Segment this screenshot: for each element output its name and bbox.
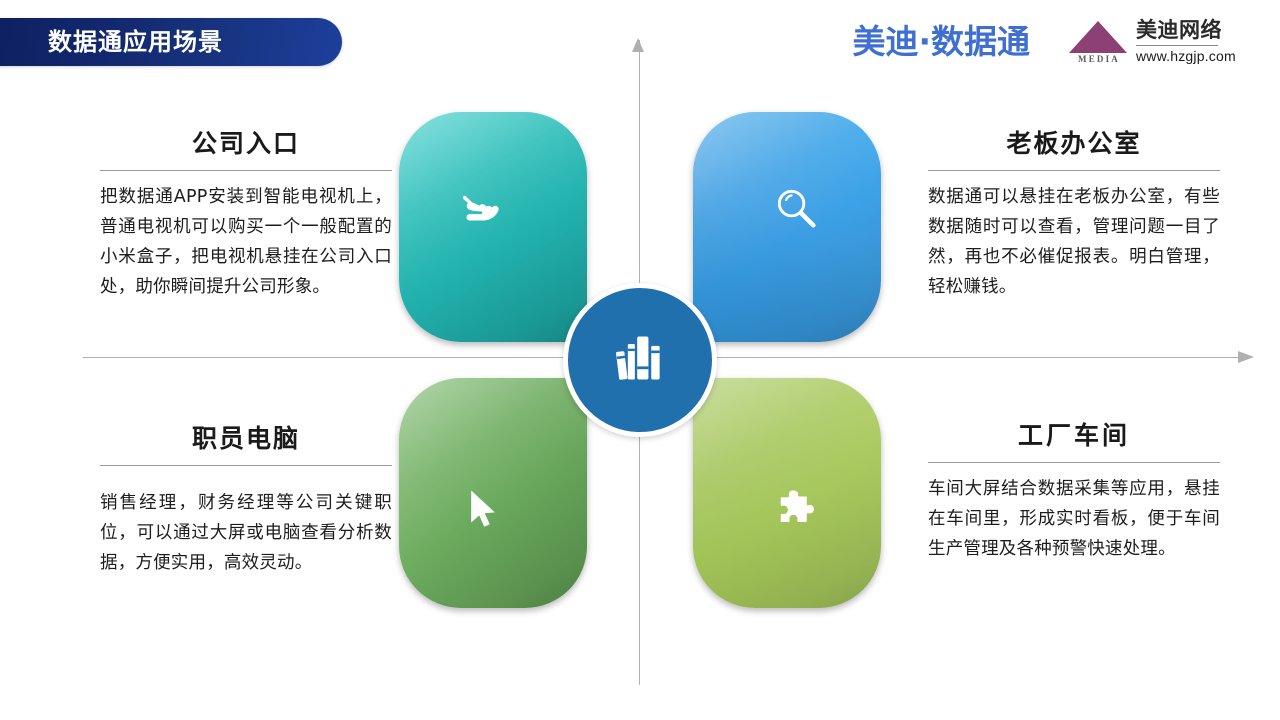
- info-block-top-right-divider: [928, 170, 1220, 171]
- logo-company-name: 美迪网络: [1136, 18, 1222, 43]
- pointing-hand-icon: [389, 94, 577, 324]
- info-block-top-left-heading: 公司入口: [100, 128, 392, 160]
- center-hub[interactable]: [563, 283, 717, 437]
- info-block-top-right-heading: 老板办公室: [928, 128, 1220, 160]
- petal-top-left[interactable]: [399, 112, 587, 342]
- logo-website-url: www.hzgjp.com: [1136, 48, 1236, 64]
- magnifier-icon: [703, 94, 891, 324]
- info-block-bottom-left-heading: 职员电脑: [100, 423, 392, 455]
- info-block-bottom-left-body: 销售经理，财务经理等公司关键职位，可以通过大屏或电脑查看分析数据，方便实用，高效…: [100, 488, 392, 578]
- info-block-bottom-left-divider: [100, 465, 392, 466]
- brand-wordmark: 美迪·数据通: [852, 22, 1030, 62]
- slide-canvas: 数据通应用场景 美迪·数据通 MEDIA 美迪网络 www.hzgjp.com: [0, 0, 1280, 720]
- mountain-logo-icon: [1068, 20, 1128, 54]
- info-block-top-right-body: 数据通可以悬挂在老板办公室，有些数据随时可以查看，管理问题一目了然，再也不必催促…: [928, 182, 1220, 302]
- axis-arrow-right-icon: [1238, 351, 1254, 363]
- info-block-bottom-left: 职员电脑 销售经理，财务经理等公司关键职位，可以通过大屏或电脑查看分析数据，方便…: [100, 423, 392, 578]
- axis-arrow-up-icon: [632, 38, 644, 52]
- logo-divider: [1136, 45, 1218, 46]
- info-block-bottom-right-body: 车间大屏结合数据采集等应用，悬挂在车间里，形成实时看板，便于车间生产管理及各种预…: [928, 474, 1220, 564]
- petal-top-right[interactable]: [693, 112, 881, 342]
- info-block-top-left-body: 把数据通APP安装到智能电视机上，普通电视机可以购买一个一般配置的小米盒子，把电…: [100, 182, 392, 302]
- puzzle-piece-icon: [703, 394, 891, 624]
- info-block-bottom-right-heading: 工厂车间: [928, 420, 1220, 452]
- info-block-top-left-divider: [100, 170, 392, 171]
- mouse-cursor-icon: [389, 394, 577, 624]
- info-block-top-left: 公司入口 把数据通APP安装到智能电视机上，普通电视机可以购买一个一般配置的小米…: [100, 128, 392, 302]
- logo-media-label: MEDIA: [1068, 54, 1130, 64]
- info-block-top-right: 老板办公室 数据通可以悬挂在老板办公室，有些数据随时可以查看，管理问题一目了然，…: [928, 128, 1220, 302]
- books-icon: [610, 329, 670, 392]
- info-block-bottom-right-divider: [928, 462, 1220, 463]
- page-title: 数据通应用场景: [48, 27, 223, 57]
- petal-bottom-left[interactable]: [399, 378, 587, 608]
- info-block-bottom-right: 工厂车间 车间大屏结合数据采集等应用，悬挂在车间里，形成实时看板，便于车间生产管…: [928, 420, 1220, 564]
- petal-bottom-right[interactable]: [693, 378, 881, 608]
- company-logo: MEDIA 美迪网络 www.hzgjp.com: [1068, 18, 1218, 72]
